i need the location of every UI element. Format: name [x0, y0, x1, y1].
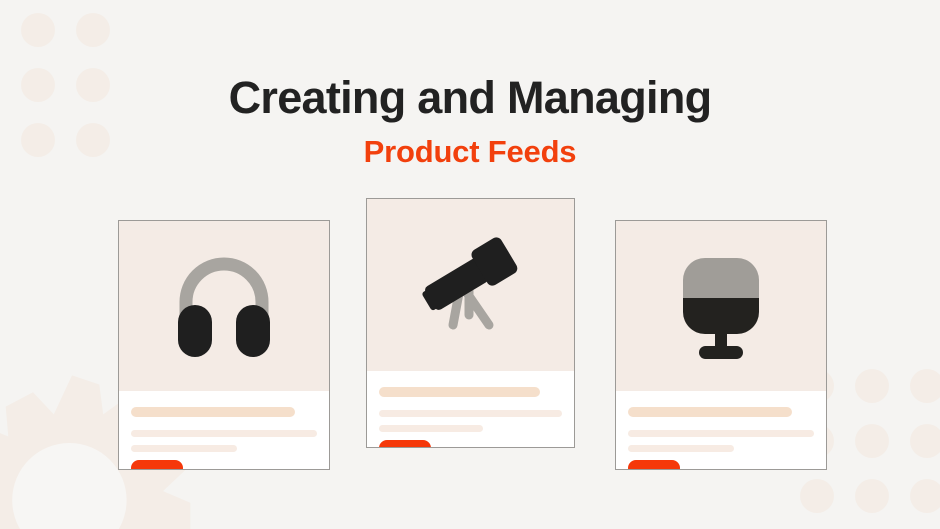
page-subtitle: Product Feeds — [0, 135, 940, 169]
page-title: Creating and Managing — [0, 74, 940, 122]
card-media-area — [119, 221, 329, 391]
placeholder-line-body-2 — [131, 445, 237, 452]
placeholder-line-body-1 — [131, 430, 317, 437]
placeholder-line-title — [379, 387, 540, 397]
headphones-icon — [172, 250, 276, 362]
card-cta-button[interactable] — [379, 440, 431, 448]
placeholder-line-body-2 — [628, 445, 734, 452]
slide-canvas: Creating and Managing Product Feeds — [0, 0, 940, 529]
placeholder-line-body-2 — [379, 425, 483, 432]
card-media-area — [367, 199, 574, 371]
card-body-area — [119, 391, 329, 470]
product-card-monitor[interactable] — [615, 220, 827, 470]
card-cta-button[interactable] — [131, 460, 183, 470]
card-media-area — [616, 221, 826, 391]
placeholder-line-body-1 — [628, 430, 814, 437]
telescope-icon — [415, 229, 527, 341]
card-body-area — [367, 371, 574, 448]
placeholder-line-title — [628, 407, 792, 417]
card-body-area — [616, 391, 826, 470]
placeholder-line-body-1 — [379, 410, 562, 417]
product-card-headphones[interactable] — [118, 220, 330, 470]
monitor-icon — [669, 250, 773, 362]
placeholder-line-title — [131, 407, 295, 417]
heading-block: Creating and Managing Product Feeds — [0, 74, 940, 169]
card-cta-button[interactable] — [628, 460, 680, 470]
product-card-telescope[interactable] — [366, 198, 575, 448]
